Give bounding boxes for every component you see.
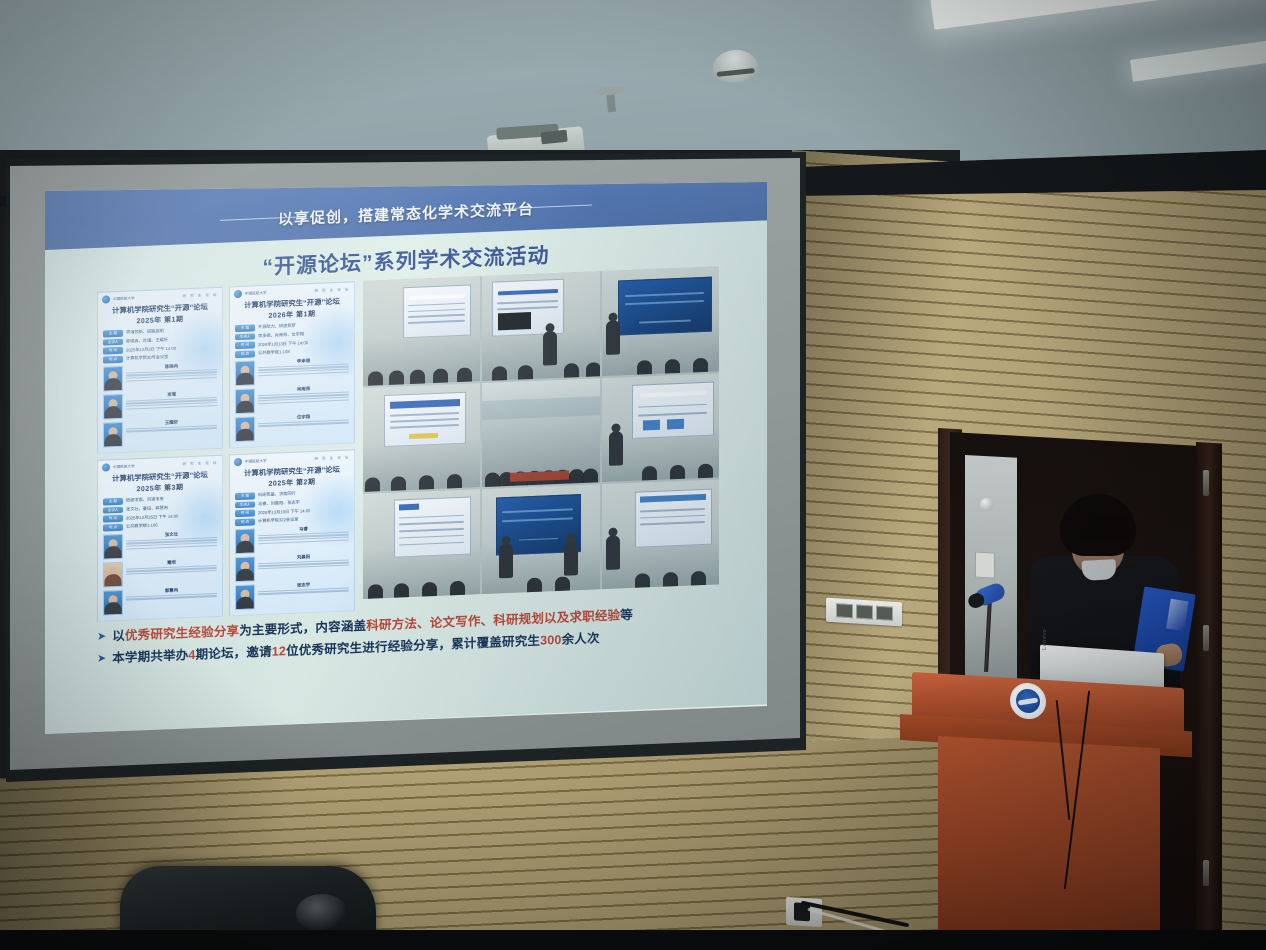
- avatar: [235, 360, 255, 386]
- poster-row-tag: 地 点: [103, 356, 123, 363]
- poster-speaker: 肖雨昂: [235, 384, 349, 414]
- collage-photo: [602, 266, 719, 375]
- light-switch[interactable]: [856, 604, 873, 619]
- poster-speaker: 郭慧冉: [103, 586, 217, 616]
- door-hinge: [1203, 860, 1209, 886]
- poster-card: 中国民航大学 研 究 生 论 坛 计算机学院研究生“开源”论坛 2025年 第3…: [97, 455, 223, 622]
- avatar: [103, 533, 123, 559]
- door-hinge: [1203, 470, 1209, 496]
- poster-info-rows: 主 题科研筑基、求索同行 主讲人马睿、刘晨阳、张志宇 时 间2025年12月16…: [230, 488, 354, 526]
- poster-row-value: 马睿、刘晨阳、张志宇: [258, 499, 300, 507]
- poster-row-value: 张文壮、蹇培、郭慧冉: [126, 505, 168, 513]
- poster-speaker: 马睿: [235, 524, 349, 554]
- lecture-hall-scene: 以享促创，搭建常态化学术交流平台 “开源论坛”系列学术交流活动 中国民航大学 研…: [0, 0, 1266, 950]
- collage-photo: [602, 373, 719, 482]
- avatar: [235, 416, 255, 442]
- poster-info-row: 主 题学海领航、研路启明: [103, 326, 217, 337]
- presentation-slide: 以享促创，搭建常态化学术交流平台 “开源论坛”系列学术交流活动 中国民航大学 研…: [45, 182, 767, 734]
- event-photo-collage: [363, 266, 719, 599]
- poster-row-tag: 时 间: [235, 342, 255, 349]
- poster-row-tag: 主 题: [103, 498, 123, 505]
- poster-row-tag: 时 间: [103, 347, 123, 354]
- collage-photo: [602, 480, 719, 589]
- poster-title: 计算机学院研究生“开源”论坛: [232, 464, 352, 480]
- collage-photo: [482, 271, 599, 380]
- light-switch-panel[interactable]: [826, 598, 902, 627]
- poster-row-value: 公共教学楼1-108: [258, 349, 290, 356]
- poster-grid: 中国民航大学 研 究 生 论 坛 计算机学院研究生“开源”论坛 2025年 第1…: [97, 281, 355, 622]
- poster-row-value: 陈晓冉、肖瑾、王耀轩: [126, 337, 168, 345]
- poster-title: 计算机学院研究生“开源”论坛: [100, 301, 220, 317]
- poster-row-tag: 地 点: [235, 518, 255, 525]
- poster-speaker: 陈晓冉: [103, 362, 217, 392]
- collage-photo: [363, 489, 480, 598]
- bullet-arrow-icon: ➤: [97, 650, 106, 670]
- avatar: [235, 388, 255, 414]
- poster-corner-label: 研 究 生 论 坛: [315, 287, 350, 293]
- poster-speaker: 蹇培: [103, 558, 217, 588]
- poster-row-value: 公共教学楼1-106: [126, 523, 158, 530]
- presenter-fringe: [1064, 514, 1132, 540]
- poster-info-rows: 主 题学海领航、研路启明 主讲人陈晓冉、肖瑾、王耀轩 时 间2025年12月2日…: [98, 326, 222, 364]
- podium-body: [938, 736, 1160, 950]
- poster-speaker: 张文壮: [103, 530, 217, 560]
- poster-speaker: 肖瑾: [103, 390, 217, 420]
- door-frame-right: [1196, 442, 1222, 950]
- poster-row-tag: 主讲人: [235, 501, 255, 508]
- poster-card: 中国民航大学 研 究 生 论 坛 计算机学院研究生“开源”论坛 2026年 第1…: [229, 281, 355, 448]
- poster-university: 中国民航大学: [245, 290, 267, 296]
- poster-row-value: 学海领航、研路启明: [126, 328, 164, 336]
- avatar: [103, 561, 123, 587]
- poster-row-tag: 主讲人: [235, 333, 255, 340]
- collage-photo: [482, 485, 599, 594]
- poster-row-tag: 主 题: [235, 492, 255, 499]
- doorway-lit-panel: [965, 455, 1017, 693]
- poster-speaker: 张志宇: [235, 580, 349, 610]
- university-logo-icon: [234, 290, 242, 298]
- poster-row-value: 砥砺求索、问道未来: [126, 496, 164, 504]
- poster-info-rows: 主 题砥砺求索、问道未来 主讲人张文壮、蹇培、郭慧冉 时 间2025年12月25…: [98, 494, 222, 532]
- avatar: [103, 589, 123, 615]
- avatar: [235, 528, 255, 554]
- poster-row-value: 李承德、肖雨昂、位宇翔: [258, 331, 304, 339]
- door-hinge: [1203, 625, 1209, 651]
- poster-university: 中国民航大学: [113, 296, 135, 302]
- poster-row-tag: 主 题: [235, 324, 255, 331]
- poster-card: 中国民航大学 研 究 生 论 坛 计算机学院研究生“开源”论坛 2025年 第1…: [97, 287, 223, 454]
- poster-speaker-list: 张文壮 蹇培 郭慧冉: [98, 529, 222, 615]
- poster-speaker-list: 马睿 刘晨阳 张志宇: [230, 524, 354, 610]
- poster-title: 计算机学院研究生“开源”论坛: [232, 296, 352, 312]
- door-knob: [980, 498, 993, 511]
- poster-row-value: 2025年12月16日 下午 14:00: [258, 508, 310, 516]
- poster-speaker-list: 陈晓冉 肖瑾 王耀轩: [98, 361, 222, 447]
- poster-speaker: 位宇翔: [235, 412, 349, 442]
- avatar: [103, 421, 123, 447]
- poster-row-tag: 主讲人: [103, 338, 123, 345]
- poster-row-tag: 地 点: [103, 524, 123, 531]
- avatar: [103, 365, 123, 391]
- collage-photo: [482, 378, 599, 487]
- avatar: [103, 393, 123, 419]
- light-switch[interactable]: [836, 603, 853, 618]
- bullet-arrow-icon: ➤: [97, 627, 106, 647]
- poster-info-row: 主 题砥砺求索、问道未来: [103, 494, 217, 505]
- laptop-brand-label: Lenovo: [1042, 628, 1054, 651]
- floor-strip: [0, 930, 1266, 950]
- university-logo-icon: [102, 295, 110, 303]
- poster-row-value: 2026年1月13日 下午 14:00: [258, 340, 308, 348]
- poster-corner-label: 研 究 生 论 坛: [183, 292, 218, 298]
- poster-row-value: 计算机学院30号会议室: [126, 354, 168, 362]
- poster-info-row: 主 题科研筑基、求索同行: [235, 489, 349, 500]
- avatar: [235, 556, 255, 582]
- collage-photo: [363, 383, 480, 492]
- poster-speaker: 王耀轩: [103, 418, 217, 448]
- poster-title: 计算机学院研究生“开源”论坛: [100, 469, 220, 485]
- poster-university: 中国民航大学: [113, 464, 135, 470]
- poster-university: 中国民航大学: [245, 458, 267, 464]
- poster-corner-label: 研 究 生 论 坛: [315, 455, 350, 461]
- poster-corner-label: 研 究 生 论 坛: [183, 460, 218, 466]
- poster-row-tag: 时 间: [235, 510, 255, 517]
- poster-row-value: 2025年12月25日 下午 14:00: [126, 513, 178, 521]
- university-logo-icon: [102, 463, 110, 471]
- university-logo-icon: [234, 458, 242, 466]
- collage-photo: [363, 276, 480, 385]
- poster-speaker: 李承德: [235, 356, 349, 386]
- poster-speaker-list: 李承德 肖雨昂 位宇翔: [230, 356, 354, 442]
- poster-row-tag: 时 间: [103, 515, 123, 522]
- poster-row-value: 科研筑基、求索同行: [258, 491, 296, 499]
- light-switch[interactable]: [876, 606, 893, 621]
- avatar: [235, 584, 255, 610]
- poster-info-row: 主 题开源助力、研途筑梦: [235, 321, 349, 332]
- poster-row-value: 2025年12月2日 下午 14:00: [126, 345, 176, 353]
- poster-card: 中国民航大学 研 究 生 论 坛 计算机学院研究生“开源”论坛 2025年 第2…: [229, 449, 355, 616]
- poster-speaker: 刘晨阳: [235, 552, 349, 582]
- poster-row-value: 开源助力、研途筑梦: [258, 323, 296, 331]
- projection-screen-surface: 以享促创，搭建常态化学术交流平台 “开源论坛”系列学术交流活动 中国民航大学 研…: [45, 182, 767, 734]
- poster-row-tag: 地 点: [235, 350, 255, 357]
- poster-row-value: 计算机学院322会议室: [258, 517, 299, 525]
- poster-row-tag: 主 题: [103, 330, 123, 337]
- slide-header-text: 以享促创，搭建常态化学术交流平台: [45, 188, 767, 239]
- poster-row-tag: 主讲人: [103, 506, 123, 513]
- poster-info-rows: 主 题开源助力、研途筑梦 主讲人李承德、肖雨昂、位宇翔 时 间2026年1月13…: [230, 320, 354, 358]
